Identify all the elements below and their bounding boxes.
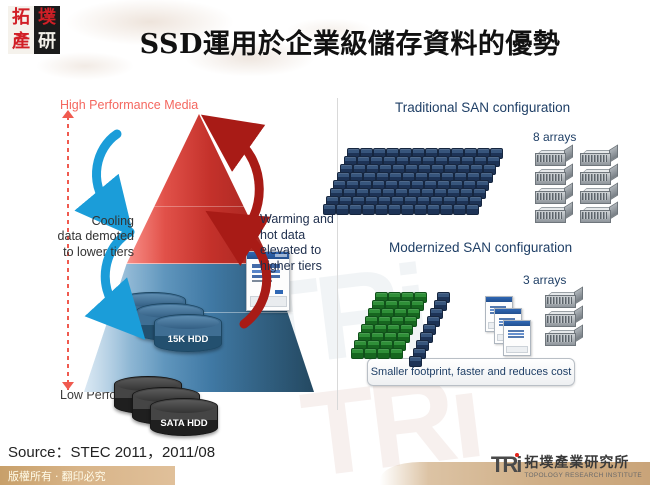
tri-seal-logo: 拓 墣 產 研 [8, 6, 60, 54]
copyright-bar: 版權所有 ‧ 翻印必究 [0, 466, 175, 485]
tri-wordmark: TRi [491, 452, 520, 478]
drive-unit-icon [390, 348, 403, 359]
logo-char-1: 拓 [8, 6, 34, 30]
tri-name-block: 拓墣產業研究所 TOPOLOGY RESEARCH INSTITUTE [520, 452, 642, 479]
ssd-card-icon [503, 320, 531, 356]
drive-unit-icon [409, 356, 422, 367]
array-drive-slots [582, 174, 607, 181]
drive-unit-icon [375, 204, 388, 215]
drive-unit-icon [414, 204, 427, 215]
drive-unit-icon [323, 204, 336, 215]
ssd-card-header [495, 309, 521, 314]
drive-unit-icon [466, 204, 479, 215]
array-drive-slots [547, 335, 572, 342]
array-drive-slots [547, 297, 572, 304]
storage-array-icon [535, 169, 571, 183]
array-drive-slots [537, 212, 562, 219]
array-drive-slots [582, 155, 607, 162]
cooling-caption-line-1: Cooling [16, 214, 134, 229]
hdd-sata-label: SATA HDD [151, 418, 217, 429]
ssd-card-header [504, 321, 530, 326]
ssd-card-footer [506, 346, 528, 353]
drive-unit-icon [427, 204, 440, 215]
page-title: SSD運用於企業級儲存資料的優勢 [80, 22, 620, 61]
hdd-15k-stack: 15K HDD [118, 292, 228, 348]
storage-tier-pyramid-panel: High Performance Media Low Performance M… [22, 96, 332, 412]
drive-unit-icon [453, 204, 466, 215]
drive-unit-icon [351, 348, 364, 359]
cooling-caption-line-2: data demoted [16, 229, 134, 244]
modernized-callout: Smaller footprint, faster and reduces co… [367, 358, 575, 386]
array-drive-slots [547, 316, 572, 323]
drive-unit-icon [377, 348, 390, 359]
storage-array-icon [545, 330, 581, 344]
traditional-arrays-label: 8 arrays [533, 130, 576, 144]
disk-icon: SATA HDD [150, 398, 218, 436]
traditional-san-title: Traditional SAN configuration [395, 100, 570, 115]
logo-char-2: 墣 [34, 6, 60, 30]
traditional-drive-array [347, 148, 517, 214]
storage-array-icon [580, 169, 616, 183]
high-performance-media-label: High Performance Media [60, 98, 198, 112]
array-drive-slots [537, 174, 562, 181]
axis-arrow-down-icon [62, 382, 74, 390]
ssd-package-text-line [252, 280, 272, 282]
storage-array-icon [580, 207, 616, 221]
storage-array-icon [535, 188, 571, 202]
array-drive-slots [537, 193, 562, 200]
storage-array-icon [580, 150, 616, 164]
modernized-hdd-column [437, 292, 477, 362]
tri-name-en: TOPOLOGY RESEARCH INSTITUTE [524, 472, 642, 479]
storage-array-icon [535, 150, 571, 164]
storage-array-icon [545, 311, 581, 325]
slide-canvas: 拓 墣 產 研 SSD運用於企業級儲存資料的優勢 TRi TRi High Pe… [0, 0, 650, 485]
drive-unit-icon [401, 204, 414, 215]
drive-unit-icon [364, 348, 377, 359]
ssd-card-header [486, 297, 512, 302]
hdd-15k-label: 15K HDD [155, 334, 221, 345]
array-drive-slots [582, 193, 607, 200]
drive-unit-icon [362, 204, 375, 215]
storage-array-icon [535, 207, 571, 221]
copyright-text: 版權所有 ‧ 翻印必究 [8, 468, 106, 484]
source-citation: Source：STEC 2011，2011/08 [8, 441, 215, 462]
storage-array-icon [580, 188, 616, 202]
ssd-card-logo [508, 330, 524, 338]
cooling-caption: Cooling data demoted to lower tiers [16, 214, 134, 260]
array-drive-slots [537, 155, 562, 162]
drive-unit-icon [349, 204, 362, 215]
logo-char-3: 產 [8, 30, 34, 54]
drive-unit-icon [440, 204, 453, 215]
modernized-arrays-label: 3 arrays [523, 273, 566, 287]
disk-icon: 15K HDD [154, 314, 222, 352]
modernized-san-title: Modernized SAN configuration [389, 240, 572, 255]
drive-unit-icon [336, 204, 349, 215]
array-drive-slots [582, 212, 607, 219]
logo-char-4: 研 [34, 30, 60, 54]
tri-name-cn: 拓墣產業研究所 [524, 452, 642, 472]
ssd-package-badge [275, 290, 283, 294]
drive-unit-icon [388, 204, 401, 215]
san-comparison-panel: Traditional SAN configuration 8 arrays M… [345, 96, 645, 412]
cooling-caption-line-3: to lower tiers [16, 245, 134, 260]
ssd-package-footer [250, 296, 287, 307]
pyramid-tier-divider-3 [132, 206, 266, 207]
tri-footer-logo: TRi 拓墣產業研究所 TOPOLOGY RESEARCH INSTITUTE [491, 452, 642, 478]
storage-array-icon [545, 292, 581, 306]
tri-dot-icon [515, 453, 519, 457]
hdd-sata-stack: SATA HDD [114, 376, 224, 432]
